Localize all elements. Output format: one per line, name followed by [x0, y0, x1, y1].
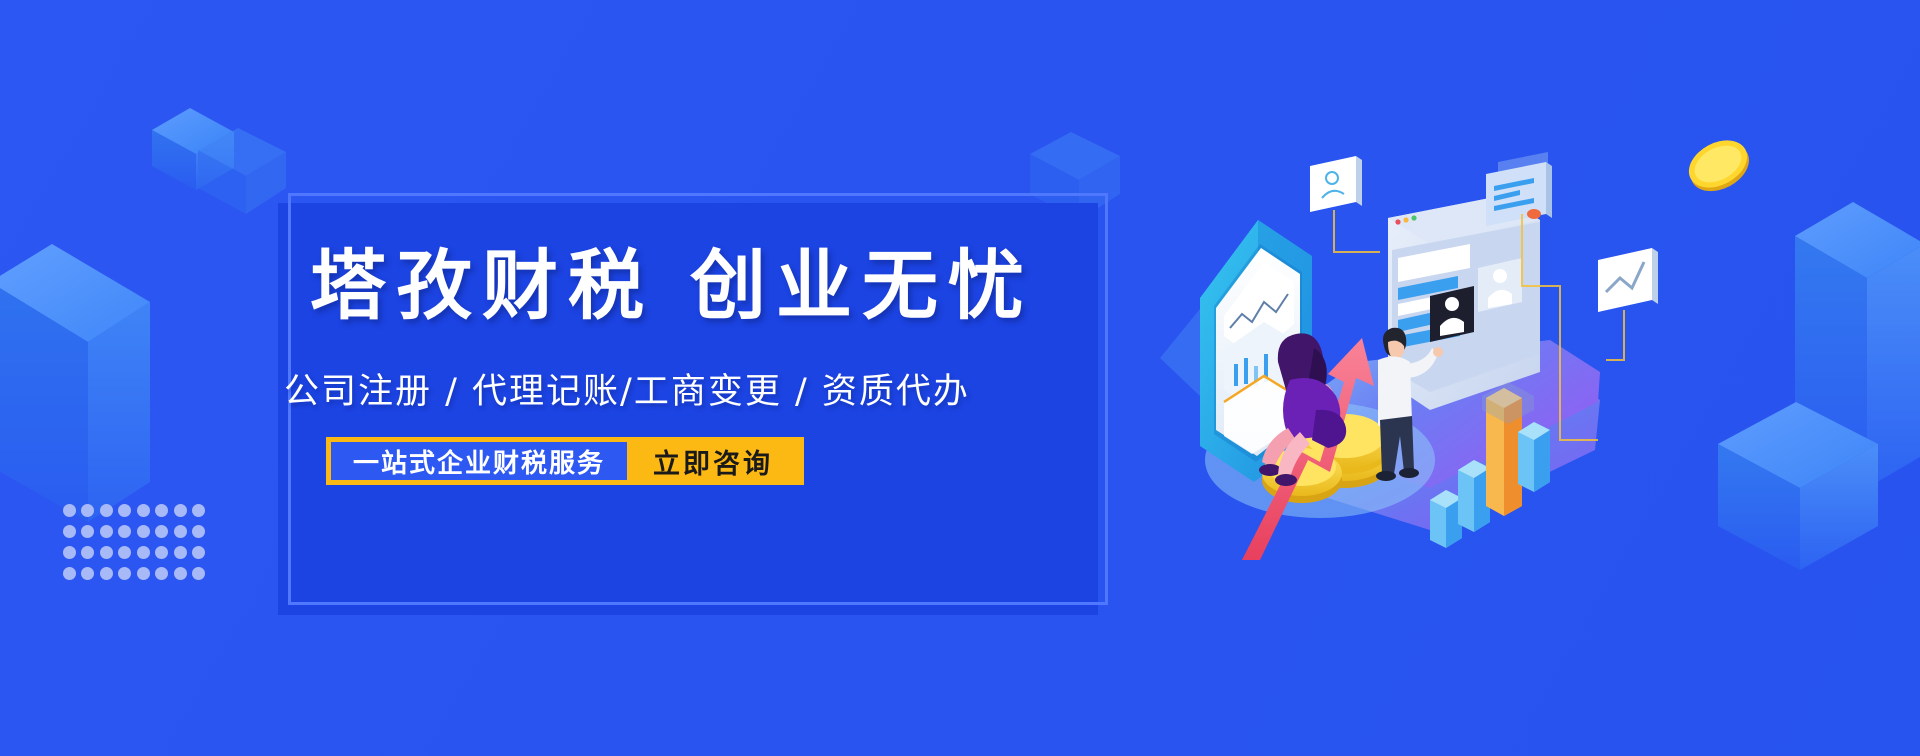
banner-content: 塔孜财税创业无忧 公司注册 / 代理记账/工商变更 / 资质代办 一站式企业财税… [288, 193, 1108, 605]
dot [118, 546, 131, 559]
dot [63, 504, 76, 517]
dot [100, 567, 113, 580]
dot [137, 546, 150, 559]
dot [100, 504, 113, 517]
dot [63, 567, 76, 580]
dot [192, 567, 205, 580]
cube-frame-accent-icon [198, 126, 286, 214]
dot [155, 525, 168, 538]
dot [81, 567, 94, 580]
service-tag: 一站式企业财税服务 [331, 442, 627, 480]
cube-small-floating-icon [152, 108, 234, 190]
consult-button[interactable]: 立即咨询 [627, 442, 799, 480]
dot [81, 525, 94, 538]
dot [155, 567, 168, 580]
cube-right-tall-icon [1795, 188, 1920, 488]
subtitle: 公司注册 / 代理记账/工商变更 / 资质代办 [284, 363, 970, 414]
isometric-illustration [1130, 110, 1690, 560]
dot [174, 525, 187, 538]
dot [81, 504, 94, 517]
dot [192, 546, 205, 559]
dot [118, 504, 131, 517]
dot [137, 567, 150, 580]
consult-button-label: 立即咨询 [653, 442, 773, 481]
dot [155, 504, 168, 517]
service-tag-label: 一站式企业财税服务 [353, 443, 605, 480]
dot-grid-decoration [60, 500, 208, 584]
dot [137, 504, 150, 517]
dot [174, 567, 187, 580]
headline-part-1: 塔孜财税 [310, 241, 654, 330]
dot [100, 546, 113, 559]
dot [63, 525, 76, 538]
dot [100, 525, 113, 538]
dot [118, 567, 131, 580]
coin-top-right-icon [1682, 128, 1754, 200]
cta-group: 一站式企业财税服务 立即咨询 [326, 437, 804, 485]
dot [192, 504, 205, 517]
cube-right-bottom-icon [1718, 400, 1878, 570]
page-title: 塔孜财税创业无忧 [310, 248, 1034, 324]
dot [174, 546, 187, 559]
headline-part-2: 创业无忧 [690, 241, 1034, 330]
dot [192, 525, 205, 538]
promo-banner: 塔孜财税创业无忧 公司注册 / 代理记账/工商变更 / 资质代办 一站式企业财税… [0, 0, 1920, 756]
dot [174, 504, 187, 517]
cube-left-tall-icon [0, 222, 150, 522]
dot [118, 525, 131, 538]
dot [155, 546, 168, 559]
dot [137, 525, 150, 538]
dot [81, 546, 94, 559]
dot [63, 546, 76, 559]
